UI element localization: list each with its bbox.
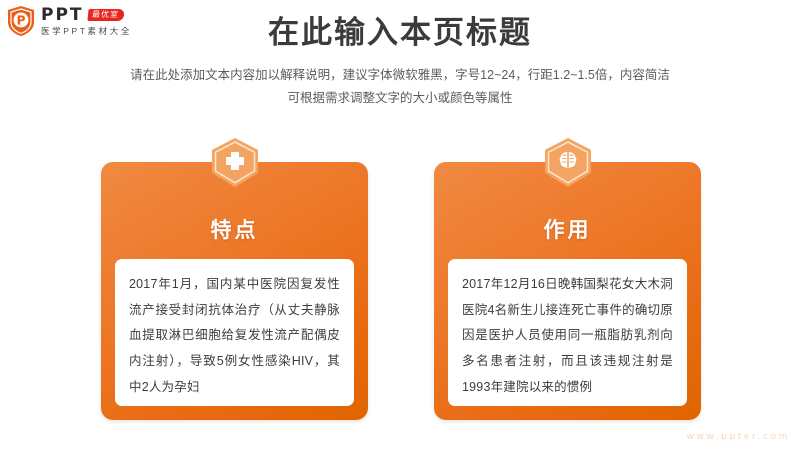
card-body-text: 2017年12月16日晚韩国梨花女大木洞医院4名新生儿接连死亡事件的确切原因是医… [462,272,673,400]
site-watermark: www.ppter.com [687,432,790,442]
brain-icon [543,137,593,192]
card-title: 特点 [101,214,368,244]
card-body: 2017年1月，国内某中医院因复发性流产接受封闭抗体治疗（从丈夫静脉血提取淋巴细… [115,259,354,406]
page-subtitle: 请在此处添加文本内容加以解释说明，建议字体微软雅黑，字号12~24，行距1.2~… [100,64,700,110]
card-title: 作用 [434,214,701,244]
page-title: 在此输入本页标题 [0,14,800,51]
card-row: 特点 2017年1月，国内某中医院因复发性流产接受封闭抗体治疗（从丈夫静脉血提取… [0,133,800,433]
card-features[interactable]: 特点 2017年1月，国内某中医院因复发性流产接受封闭抗体治疗（从丈夫静脉血提取… [101,162,368,420]
medical-cross-icon [210,137,260,192]
card-effects[interactable]: 作用 2017年12月16日晚韩国梨花女大木洞医院4名新生儿接连死亡事件的确切原… [434,162,701,420]
card-body-text: 2017年1月，国内某中医院因复发性流产接受封闭抗体治疗（从丈夫静脉血提取淋巴细… [129,272,340,400]
subtitle-line-1: 请在此处添加文本内容加以解释说明，建议字体微软雅黑，字号12~24，行距1.2~… [100,64,700,87]
card-body: 2017年12月16日晚韩国梨花女大木洞医院4名新生儿接连死亡事件的确切原因是医… [448,259,687,406]
subtitle-line-2: 可根据需求调整文字的大小或颜色等属性 [100,87,700,110]
